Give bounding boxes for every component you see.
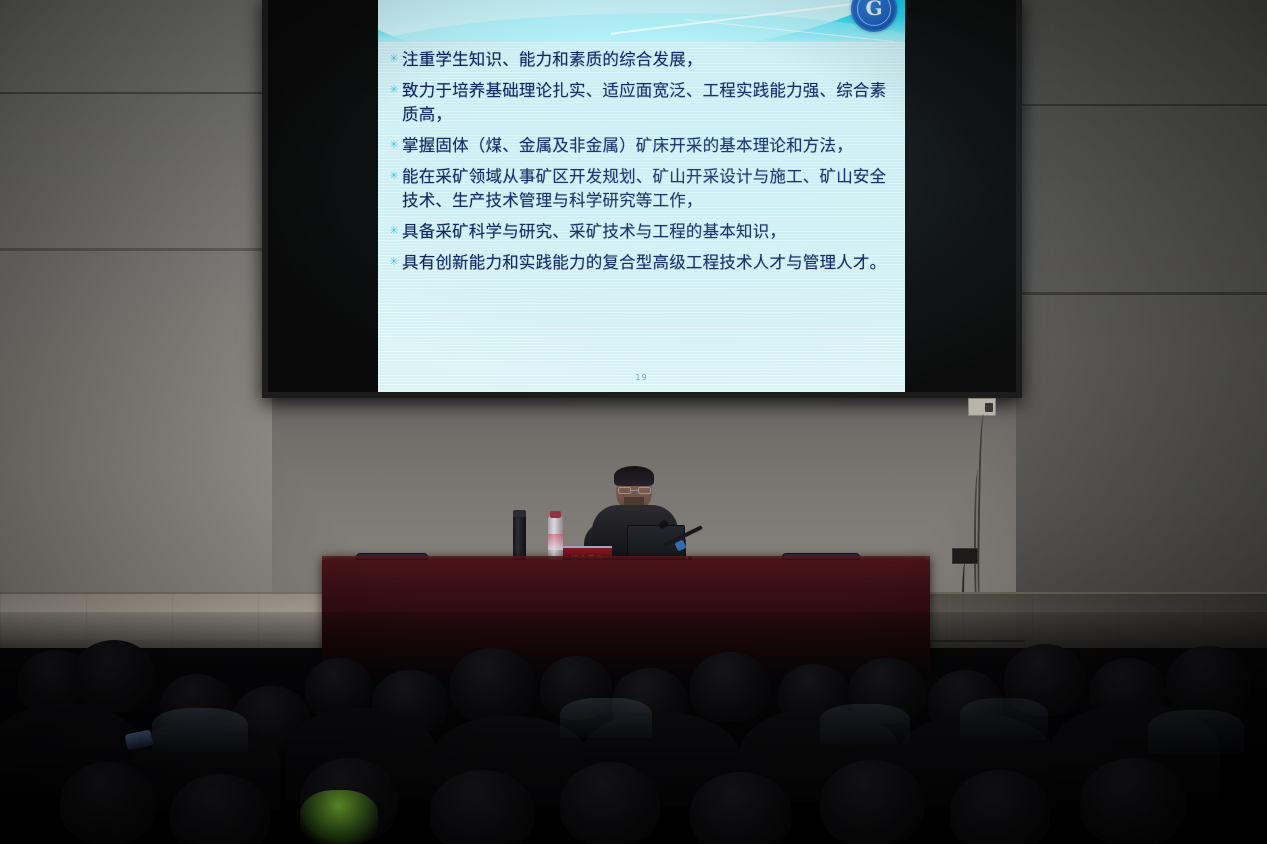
presentation-slide: G ✳ 注重学生知识、能力和素质的综合发展， ✳ 致力于培养基础理论扎实、适应面… [378, 0, 905, 392]
audience-head-front [690, 772, 792, 844]
audience-head-front [60, 762, 156, 844]
bullet-text: 注重学生知识、能力和素质的综合发展， [402, 48, 703, 72]
wall-left [0, 0, 272, 640]
list-item: ✳ 具有创新能力和实践能力的复合型高级工程技术人才与管理人才。 [386, 251, 895, 275]
bullet-marker-icon: ✳ [386, 48, 402, 70]
audience-head-front [820, 760, 924, 844]
wall-right [1016, 0, 1267, 640]
bullet-marker-icon: ✳ [386, 251, 402, 273]
list-item: ✳ 具备采矿科学与研究、采矿技术与工程的基本知识， [386, 220, 895, 244]
bullet-marker-icon: ✳ [386, 134, 402, 156]
speaker-hair [614, 466, 654, 486]
wall-seam-right-upper [1016, 104, 1267, 106]
wall-seam-right-lower [1016, 292, 1267, 295]
bullet-text: 具备采矿科学与研究、采矿技术与工程的基本知识， [402, 220, 786, 244]
water-bottle-label [548, 534, 563, 550]
glasses-bridge [631, 490, 638, 491]
audience-highlight [560, 698, 652, 738]
bullet-text: 具有创新能力和实践能力的复合型高级工程技术人才与管理人才。 [402, 251, 886, 275]
audience-highlight [152, 708, 248, 752]
glasses-lens-right [638, 487, 651, 494]
audience-head [450, 648, 536, 722]
audience-head-front [560, 762, 660, 844]
list-item: ✳ 注重学生知识、能力和素质的综合发展， [386, 48, 895, 72]
audience-highlight [960, 698, 1048, 740]
bullet-text: 能在采矿领域从事矿区开发规划、矿山开采设计与施工、矿山安全技术、生产技术管理与科… [402, 165, 895, 213]
audience-highlight [820, 704, 910, 744]
screen-unlit-area [268, 0, 378, 392]
bullet-marker-icon: ✳ [386, 220, 402, 242]
speaker-glasses-icon [618, 487, 651, 494]
list-item: ✳ 致力于培养基础理论扎实、适应面宽泛、工程实践能力强、综合素质高， [386, 79, 895, 127]
logo-mark: G [865, 0, 882, 18]
audience-area [0, 612, 1267, 844]
bullet-marker-icon: ✳ [386, 165, 402, 187]
slide-bullet-list: ✳ 注重学生知识、能力和素质的综合发展， ✳ 致力于培养基础理论扎实、适应面宽泛… [386, 48, 895, 282]
projection-screen: G ✳ 注重学生知识、能力和素质的综合发展， ✳ 致力于培养基础理论扎实、适应面… [262, 0, 1022, 398]
audience-head [690, 652, 770, 722]
water-bottle-cap [550, 511, 561, 518]
glasses-lens-left [618, 487, 631, 494]
audience-head-front [950, 770, 1050, 844]
lecture-hall-scene: G ✳ 注重学生知识、能力和素质的综合发展， ✳ 致力于培养基础理论扎实、适应面… [0, 0, 1267, 844]
audience-highlight [1148, 710, 1244, 754]
list-item: ✳ 能在采矿领域从事矿区开发规划、矿山开采设计与施工、矿山安全技术、生产技术管理… [386, 165, 895, 213]
audience-green-jacket [300, 790, 378, 844]
audience-head-front [430, 770, 534, 844]
bullet-text: 致力于培养基础理论扎实、适应面宽泛、工程实践能力强、综合素质高， [402, 79, 895, 127]
wall-seam-left-lower [0, 248, 272, 251]
bullet-marker-icon: ✳ [386, 79, 402, 101]
outlet-socket-hole [985, 403, 993, 412]
wall-outlet-upper [968, 398, 996, 416]
audience-head [1166, 646, 1250, 718]
bullet-text: 掌握固体（煤、金属及非金属）矿床开采的基本理论和方法， [402, 134, 853, 158]
slide-header-banner: G [378, 0, 905, 42]
audience-head [72, 640, 156, 712]
slide-page-number: 19 [378, 373, 905, 382]
audience-head-front [1080, 758, 1186, 844]
thermos-bottle [513, 514, 526, 562]
list-item: ✳ 掌握固体（煤、金属及非金属）矿床开采的基本理论和方法， [386, 134, 895, 158]
thermos-cap [513, 510, 526, 517]
wall-seam-left-upper [0, 92, 272, 94]
